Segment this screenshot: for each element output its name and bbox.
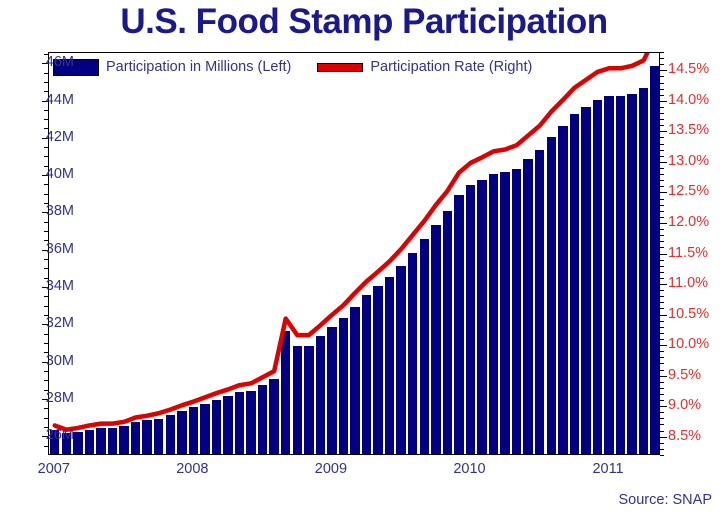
y-axis-tick-right (660, 315, 667, 316)
y-axis-label-right: 11.5% (668, 246, 708, 261)
y-axis-minor-tick-right (660, 455, 664, 456)
y-axis-minor-tick-left (44, 259, 48, 260)
y-axis-label-left: 44M (46, 93, 74, 108)
line-series-layer (49, 53, 659, 454)
y-axis-minor-tick-right (660, 296, 664, 297)
x-axis-label: 2010 (449, 462, 489, 477)
legend-label-line: Participation Rate (Right) (370, 59, 532, 75)
y-axis-minor-tick-right (660, 302, 664, 303)
y-axis-label-right: 13.0% (668, 154, 709, 169)
x-axis-label: 2008 (172, 462, 212, 477)
y-axis-minor-tick-right (660, 52, 664, 53)
y-axis-minor-tick-right (660, 370, 664, 371)
y-axis-minor-tick-right (660, 137, 664, 138)
y-axis-minor-tick-left (44, 315, 48, 316)
y-axis-minor-tick-right (660, 89, 664, 90)
y-axis-label-left: 30M (46, 354, 74, 369)
y-axis-minor-tick-left (44, 427, 48, 428)
y-axis-tick-right (660, 70, 667, 71)
y-axis-minor-tick-right (660, 83, 664, 84)
y-axis-label-left: 46M (46, 55, 74, 70)
y-axis-label-right: 9.5% (668, 368, 701, 383)
y-axis-minor-tick-right (660, 260, 664, 261)
y-axis-minor-tick-right (660, 144, 664, 145)
y-axis-tick-right (660, 223, 667, 224)
y-axis-minor-tick-left (44, 203, 48, 204)
y-axis-minor-tick-left (44, 371, 48, 372)
y-axis-minor-tick-right (660, 382, 664, 383)
y-axis-label-right: 11.0% (668, 276, 708, 291)
y-axis-label-right: 12.0% (668, 215, 709, 230)
y-axis-minor-tick-right (660, 278, 664, 279)
y-axis-label-right: 10.5% (668, 307, 709, 322)
y-axis-tick-right (660, 284, 667, 285)
y-axis-minor-tick-right (660, 449, 664, 450)
y-axis-minor-tick-right (660, 412, 664, 413)
x-axis-label: 2007 (34, 462, 74, 477)
y-axis-minor-tick-right (660, 58, 664, 59)
chart-container: U.S. Food Stamp Participation Participat… (0, 0, 728, 530)
legend-label-bar: Participation in Millions (Left) (106, 59, 291, 75)
y-axis-label-left: 26M (46, 428, 74, 443)
y-axis-minor-tick-right (660, 119, 664, 120)
y-axis-tick-right (660, 101, 667, 102)
y-axis-minor-tick-right (660, 168, 664, 169)
y-axis-tick-right (660, 406, 667, 407)
y-axis-tick-right (660, 437, 667, 438)
y-axis-label-right: 14.5% (668, 62, 709, 77)
y-axis-label-left: 32M (46, 316, 74, 331)
y-axis-minor-tick-left (44, 222, 48, 223)
y-axis-minor-tick-right (660, 418, 664, 419)
y-axis-label-left: 36M (46, 242, 74, 257)
y-axis-minor-tick-right (660, 64, 664, 65)
participation-rate-line (55, 53, 655, 430)
y-axis-label-right: 10.0% (668, 337, 709, 352)
y-axis-tick-right (660, 192, 667, 193)
y-axis-minor-tick-right (660, 199, 664, 200)
legend-swatch-line (317, 63, 363, 72)
y-axis-label-left: 38M (46, 204, 74, 219)
y-axis-minor-tick-left (44, 147, 48, 148)
y-axis-minor-tick-left (44, 296, 48, 297)
y-axis-label-left: 42M (46, 130, 74, 145)
y-axis-minor-tick-right (660, 76, 664, 77)
y-axis-minor-tick-left (44, 278, 48, 279)
chart-legend: Participation in Millions (Left) Partici… (53, 56, 558, 78)
y-axis-minor-tick-right (660, 205, 664, 206)
y-axis-minor-tick-right (660, 235, 664, 236)
plot-inner (49, 53, 659, 454)
y-axis-minor-tick-right (660, 174, 664, 175)
y-axis-tick-right (660, 254, 667, 255)
y-axis-minor-tick-right (660, 125, 664, 126)
y-axis-tick-right (660, 345, 667, 346)
y-axis-minor-tick-left (44, 408, 48, 409)
y-axis-minor-tick-right (660, 180, 664, 181)
y-axis-minor-tick-left (44, 110, 48, 111)
y-axis-minor-tick-right (660, 424, 664, 425)
y-axis-minor-tick-right (660, 400, 664, 401)
y-axis-minor-tick-right (660, 443, 664, 444)
y-axis-minor-tick-right (660, 431, 664, 432)
y-axis-minor-tick-right (660, 394, 664, 395)
y-axis-label-left: 28M (46, 391, 74, 406)
y-axis-label-left: 34M (46, 279, 74, 294)
y-axis-tick-right (660, 131, 667, 132)
y-axis-minor-tick-right (660, 156, 664, 157)
y-axis-label-left: 40M (46, 167, 74, 182)
y-axis-minor-tick-right (660, 321, 664, 322)
chart-title: U.S. Food Stamp Participation (0, 2, 728, 42)
y-axis-minor-tick-left (44, 268, 48, 269)
y-axis-minor-tick-right (660, 229, 664, 230)
y-axis-minor-tick-left (44, 334, 48, 335)
plot-area: Participation in Millions (Left) Partici… (48, 52, 660, 455)
y-axis-minor-tick-right (660, 150, 664, 151)
y-axis-minor-tick-left (44, 82, 48, 83)
y-axis-label-right: 9.0% (668, 398, 701, 413)
y-axis-minor-tick-left (44, 240, 48, 241)
y-axis-minor-tick-right (660, 327, 664, 328)
y-axis-minor-tick-right (660, 363, 664, 364)
y-axis-label-right: 13.5% (668, 123, 709, 138)
y-axis-minor-tick-left (44, 73, 48, 74)
y-axis-minor-tick-right (660, 351, 664, 352)
y-axis-minor-tick-right (660, 388, 664, 389)
x-axis-label: 2009 (311, 462, 351, 477)
y-axis-minor-tick-left (44, 194, 48, 195)
y-axis-minor-tick-right (660, 241, 664, 242)
y-axis-minor-tick-left (44, 343, 48, 344)
y-axis-label-right: 8.5% (668, 429, 701, 444)
y-axis-minor-tick-left (44, 128, 48, 129)
legend-entry-rate: Participation Rate (Right) (317, 59, 558, 75)
y-axis-minor-tick-left (44, 380, 48, 381)
y-axis-minor-tick-left (44, 306, 48, 307)
y-axis-minor-tick-right (660, 107, 664, 108)
y-axis-minor-tick-right (660, 339, 664, 340)
y-axis-minor-tick-right (660, 333, 664, 334)
y-axis-minor-tick-right (660, 95, 664, 96)
source-note: Source: SNAP (619, 492, 713, 508)
y-axis-minor-tick-right (660, 113, 664, 114)
y-axis-minor-tick-right (660, 247, 664, 248)
y-axis-label-right: 14.0% (668, 93, 709, 108)
y-axis-minor-tick-right (660, 357, 664, 358)
y-axis-minor-tick-left (44, 91, 48, 92)
y-axis-tick-right (660, 162, 667, 163)
y-axis-minor-tick-left (44, 446, 48, 447)
y-axis-tick-right (660, 376, 667, 377)
y-axis-minor-tick-left (44, 156, 48, 157)
y-axis-minor-tick-right (660, 308, 664, 309)
x-axis-label: 2011 (588, 462, 628, 477)
y-axis-minor-tick-left (44, 184, 48, 185)
y-axis-minor-tick-right (660, 272, 664, 273)
legend-entry-participation: Participation in Millions (Left) (53, 59, 317, 76)
y-axis-minor-tick-left (44, 166, 48, 167)
y-axis-minor-tick-right (660, 211, 664, 212)
y-axis-label-right: 12.5% (668, 184, 709, 199)
y-axis-minor-tick-left (44, 54, 48, 55)
y-axis-minor-tick-left (44, 119, 48, 120)
y-axis-minor-tick-right (660, 217, 664, 218)
y-axis-minor-tick-left (44, 352, 48, 353)
y-axis-minor-tick-right (660, 266, 664, 267)
y-axis-minor-tick-left (44, 390, 48, 391)
y-axis-minor-tick-left (44, 418, 48, 419)
y-axis-minor-tick-right (660, 290, 664, 291)
y-axis-minor-tick-right (660, 186, 664, 187)
y-axis-minor-tick-left (44, 231, 48, 232)
